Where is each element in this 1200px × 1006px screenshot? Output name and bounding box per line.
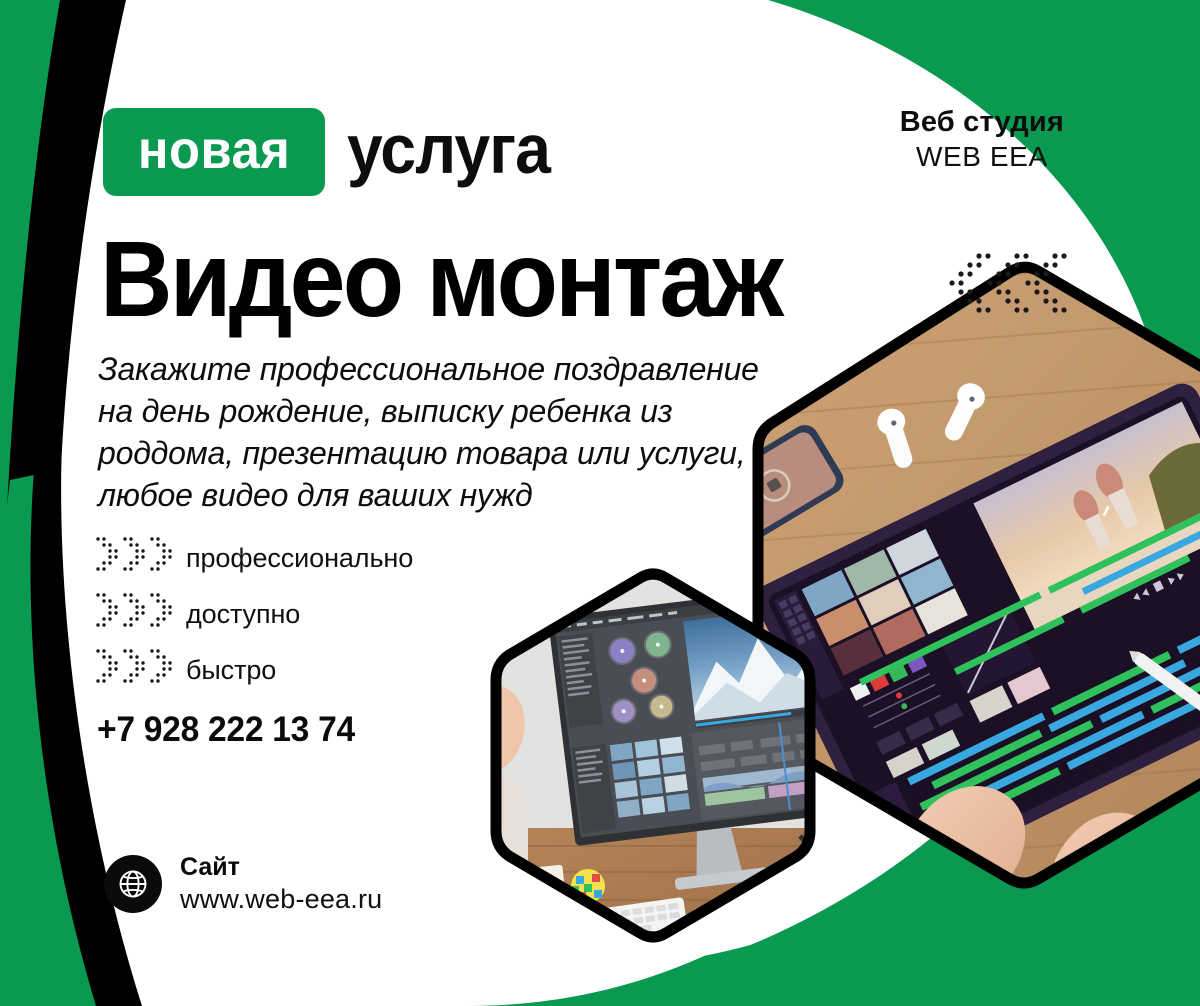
phone-number[interactable]: +7 928 222 13 74 [97,710,355,750]
description-line: любое видео для ваших нужд [98,474,838,516]
description-line: на день рождение, выписку ребенка из [98,390,838,432]
double-chevron-right-dotted-icon [96,591,182,636]
description-line: роддома, презентацию товара или услуги, [98,432,838,474]
new-badge: новая [103,108,325,196]
website-url[interactable]: www.web-eea.ru [180,882,382,916]
website-text: Сайт www.web-eea.ru [180,852,382,916]
double-chevron-left-dotted-icon [945,250,1075,325]
list-item: профессионально [96,530,413,585]
feature-label: доступно [182,599,300,629]
double-chevron-right-dotted-icon [96,535,182,580]
globe-icon [104,855,162,913]
page-title: Видео монтаж [100,225,781,333]
poster-canvas: новая услуга Веб студия WEB EEA Видео мо… [0,0,1200,1006]
service-word: услуга [347,114,550,184]
website-block[interactable]: Сайт www.web-eea.ru [104,852,382,916]
new-service-header: новая услуга [103,108,568,196]
brand-block: Веб студия WEB EEA [900,104,1064,174]
feature-label: быстро [182,655,276,685]
description-line: Закажите профессиональное поздравление [98,348,838,390]
website-label: Сайт [180,852,382,882]
double-chevron-right-dotted-icon [96,647,182,692]
feature-label: профессионально [182,543,413,573]
description-text: Закажите профессиональное поздравление н… [98,348,838,516]
list-item: быстро [96,642,413,697]
brand-line-2: WEB EEA [900,140,1064,174]
list-item: доступно [96,586,413,641]
new-badge-label: новая [138,128,290,172]
brand-line-1: Веб студия [900,104,1064,140]
feature-list: профессионально [96,530,413,698]
